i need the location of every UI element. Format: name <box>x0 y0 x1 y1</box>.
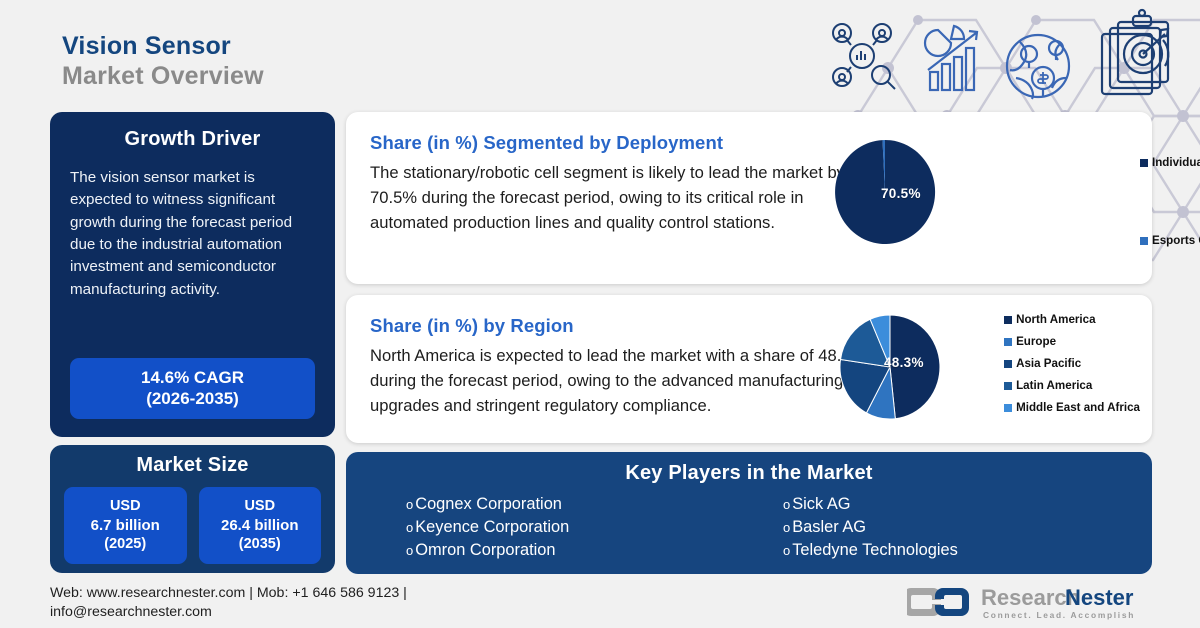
footer-contact: Web: www.researchnester.com | Mob: +1 64… <box>50 584 407 622</box>
region-pie-label: 48.3% <box>884 355 924 370</box>
deployment-title: Share (in %) Segmented by Deployment <box>370 132 850 154</box>
growth-driver-heading: Growth Driver <box>70 128 315 151</box>
legend-label: Asia Pacific <box>1016 357 1081 370</box>
region-body: North America is expected to lead the ma… <box>370 343 900 419</box>
title-primary: Vision Sensor <box>62 32 264 62</box>
cagr-value: 14.6% CAGR <box>76 368 309 388</box>
globe-location-dollar-icon <box>1007 35 1069 99</box>
legend-label: Latin America <box>1016 379 1092 392</box>
market-size-heading: Market Size <box>64 454 321 477</box>
growth-driver-card: Growth Driver The vision sensor market i… <box>50 112 335 437</box>
market-size-card: Market Size USD 6.7 billion (2025) USD 2… <box>50 445 335 573</box>
deployment-pie-label: 70.5% <box>881 186 921 201</box>
amount-label: 6.7 billion <box>68 516 183 535</box>
bullet-icon: o <box>406 519 413 537</box>
key-player-label: Sick AG <box>792 493 850 516</box>
legend-item[interactable]: Europe <box>1004 335 1140 348</box>
legend-item[interactable]: Individual/Gamer <box>1140 156 1200 169</box>
key-players-column-left: oCognex CorporationoKeyence Corporationo… <box>372 493 749 562</box>
key-player-item[interactable]: oOmron Corporation <box>406 539 749 562</box>
key-player-label: Teledyne Technologies <box>792 539 958 562</box>
decorative-icon-row <box>780 0 1200 130</box>
infographic-root: Vision Sensor Market Overview Growth Dri… <box>0 0 1200 628</box>
legend-label: Europe <box>1016 335 1056 348</box>
bullet-icon: o <box>406 496 413 514</box>
key-player-item[interactable]: oCognex Corporation <box>406 493 749 516</box>
footer-line-2: info@researchnester.com <box>50 603 407 622</box>
region-title: Share (in %) by Region <box>370 315 900 337</box>
key-players-card: Key Players in the Market oCognex Corpor… <box>346 452 1152 574</box>
key-player-item[interactable]: oSick AG <box>783 493 1126 516</box>
market-size-box-2035[interactable]: USD 26.4 billion (2035) <box>199 487 322 564</box>
key-player-item[interactable]: oBasler AG <box>783 516 1126 539</box>
legend-swatch-individual-gamer <box>1140 159 1148 167</box>
legend-swatch-north-america <box>1004 316 1012 324</box>
research-nester-logo: Research Nester Connect. Lead. Accomplis… <box>907 580 1152 624</box>
clipboard-target-icon <box>1102 10 1168 94</box>
legend-swatch-middle-east-and-africa <box>1004 404 1012 412</box>
key-players-heading: Key Players in the Market <box>372 462 1126 485</box>
market-size-box-2025[interactable]: USD 6.7 billion (2025) <box>64 487 187 564</box>
legend-item[interactable]: North America <box>1004 313 1140 326</box>
logo-tagline: Connect. Lead. Accomplish <box>983 610 1135 620</box>
pie-bar-growth-chart-icon <box>925 26 977 90</box>
people-network-magnifier-icon <box>833 24 895 89</box>
key-player-label: Cognex Corporation <box>415 493 562 516</box>
key-player-label: Basler AG <box>792 516 866 539</box>
legend-label: Middle East and Africa <box>1016 401 1140 414</box>
key-player-label: Keyence Corporation <box>415 516 569 539</box>
legend-item[interactable]: Esports Organizations <box>1140 234 1200 247</box>
year-label: (2025) <box>68 535 183 554</box>
currency-label: USD <box>203 497 318 516</box>
cagr-badge[interactable]: 14.6% CAGR (2026-2035) <box>70 358 315 419</box>
region-pie-chart: 48.3% <box>828 305 952 434</box>
growth-driver-body: The vision sensor market is expected to … <box>70 167 315 301</box>
legend-swatch-esports-organizations <box>1140 237 1148 245</box>
region-legend: North AmericaEuropeAsia PacificLatin Ame… <box>1004 313 1140 423</box>
legend-label: Individual/Gamer <box>1152 156 1200 169</box>
legend-item[interactable]: Latin America <box>1004 379 1140 392</box>
key-players-column-right: oSick AGoBasler AGoTeledyne Technologies <box>749 493 1126 562</box>
year-label: (2035) <box>203 535 318 554</box>
deployment-pie-chart: 70.5% <box>823 128 947 257</box>
key-player-item[interactable]: oKeyence Corporation <box>406 516 749 539</box>
bullet-icon: o <box>406 542 413 560</box>
cagr-period: (2026-2035) <box>76 389 309 409</box>
footer-line-1: Web: www.researchnester.com | Mob: +1 64… <box>50 584 407 603</box>
legend-item[interactable]: Middle East and Africa <box>1004 401 1140 414</box>
legend-item[interactable]: Asia Pacific <box>1004 357 1140 370</box>
legend-label: Esports Organizations <box>1152 234 1200 247</box>
amount-label: 26.4 billion <box>203 516 318 535</box>
key-player-label: Omron Corporation <box>415 539 555 562</box>
bullet-icon: o <box>783 496 790 514</box>
region-share-card: Share (in %) by Region North America is … <box>346 295 1152 443</box>
bullet-icon: o <box>783 519 790 537</box>
legend-swatch-europe <box>1004 338 1012 346</box>
legend-label: North America <box>1016 313 1095 326</box>
currency-label: USD <box>68 497 183 516</box>
deployment-share-card: Share (in %) Segmented by Deployment The… <box>346 112 1152 284</box>
title-secondary: Market Overview <box>62 62 264 92</box>
deployment-body: The stationary/robotic cell segment is l… <box>370 160 850 236</box>
logo-mark-icon <box>907 588 969 616</box>
bullet-icon: o <box>783 542 790 560</box>
legend-swatch-asia-pacific <box>1004 360 1012 368</box>
page-title: Vision Sensor Market Overview <box>62 32 264 91</box>
logo-word-nester: Nester <box>1065 585 1134 610</box>
market-size-values: USD 6.7 billion (2025) USD 26.4 billion … <box>64 487 321 564</box>
key-player-item[interactable]: oTeledyne Technologies <box>783 539 1126 562</box>
legend-swatch-latin-america <box>1004 382 1012 390</box>
